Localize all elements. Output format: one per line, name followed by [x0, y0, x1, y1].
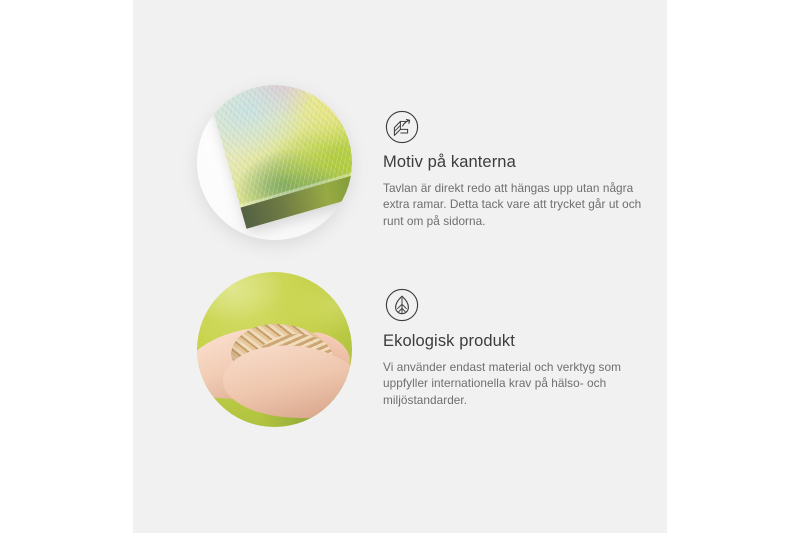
- feature-description: Tavlan är direkt redo att hängas upp uta…: [383, 180, 643, 229]
- feature-title: Ekologisk produkt: [383, 332, 643, 352]
- canvas-wrapped-edge-icon: [385, 110, 419, 144]
- content-panel: Motiv på kanterna Tavlan är direkt redo …: [133, 0, 667, 533]
- leaf-icon: [385, 288, 419, 322]
- feature-description: Vi använder endast material och verktyg …: [383, 359, 643, 408]
- feature-text-block: Motiv på kanterna Tavlan är direkt redo …: [383, 153, 643, 229]
- feature-title: Motiv på kanterna: [383, 153, 643, 173]
- hands-holding-wood-chips-photo: [197, 272, 352, 427]
- feature-text-block: Ekologisk produkt Vi använder endast mat…: [383, 332, 643, 408]
- canvas-print-corner-photo: [197, 85, 352, 240]
- product-feature-infographic: Motiv på kanterna Tavlan är direkt redo …: [0, 0, 800, 533]
